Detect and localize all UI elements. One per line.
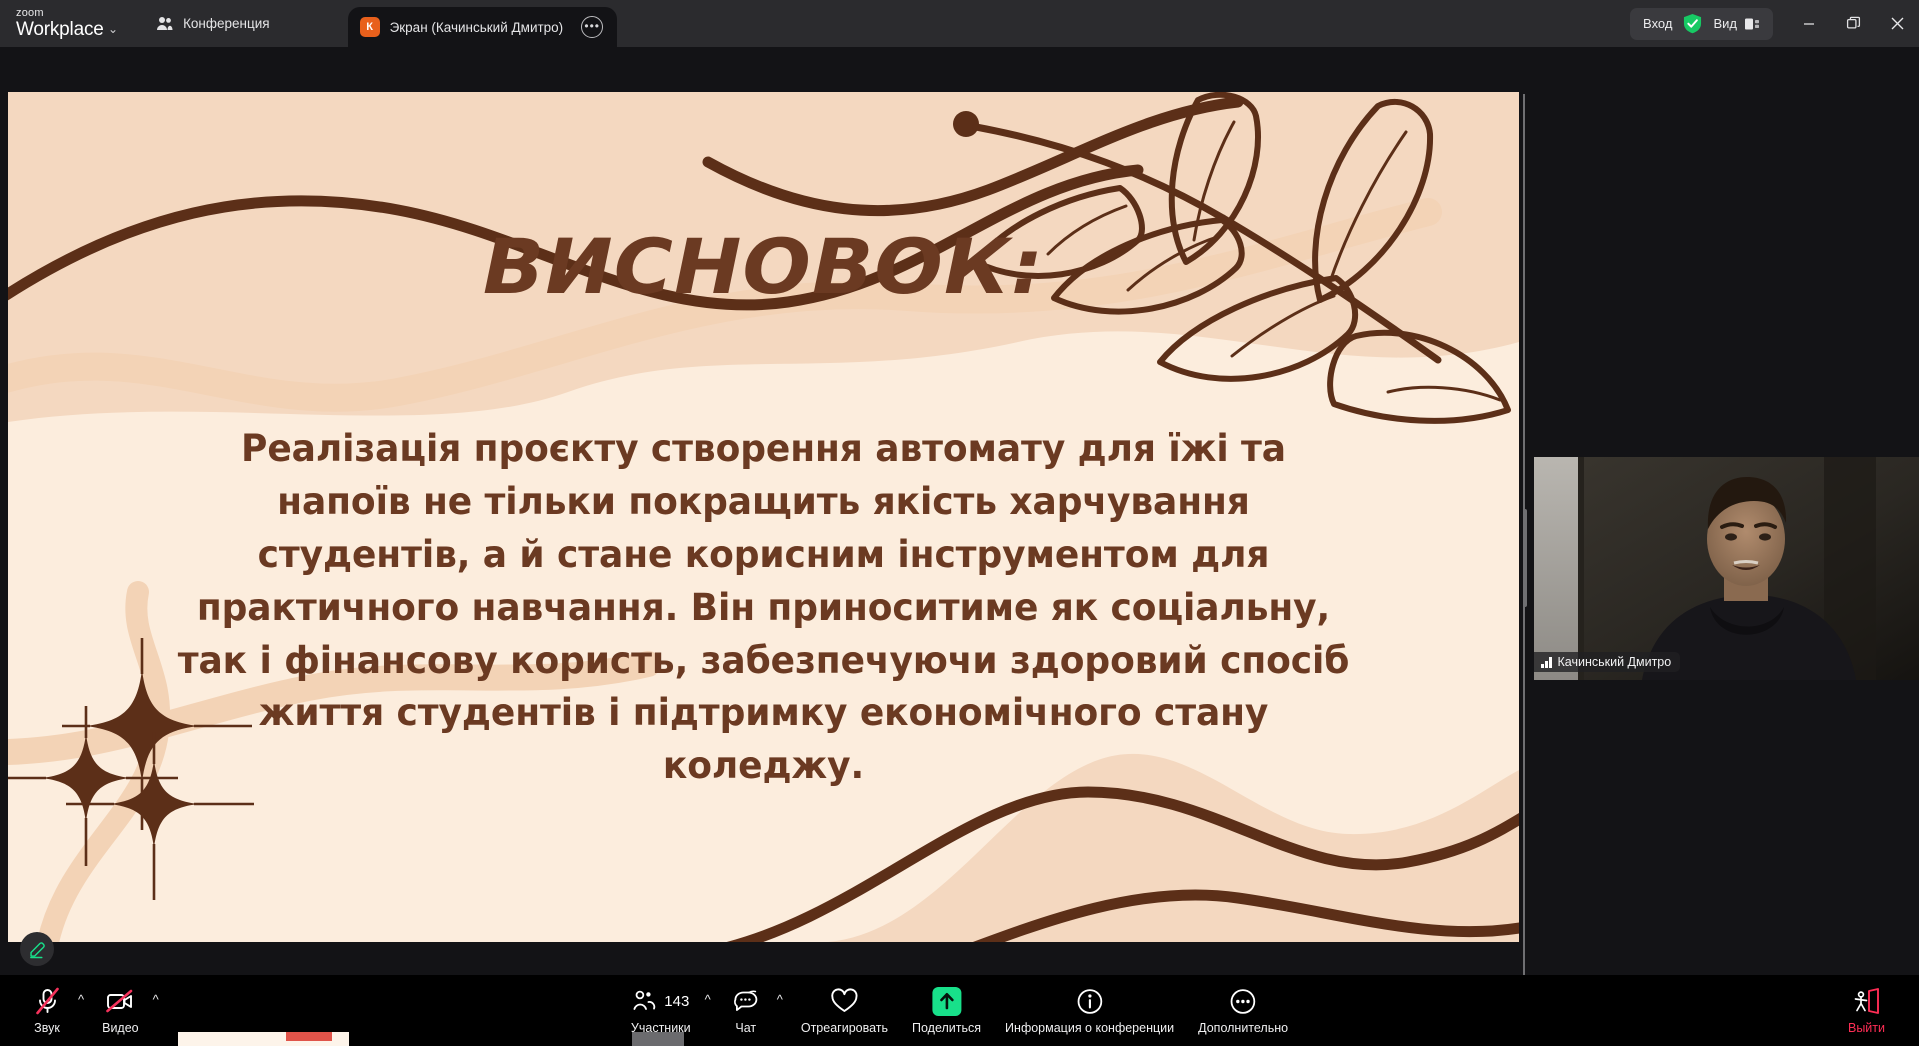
participants-label: Участники [631, 1021, 691, 1035]
share-panel-divider[interactable] [1523, 94, 1525, 1022]
camera-muted-icon [105, 986, 135, 1016]
presentation-slide: ВИСНОВОК: Реалізація проєкту створення а… [8, 92, 1519, 942]
meeting-toolbar: Звук ^ Видео ^ [0, 975, 1919, 1046]
toolbar-exit-group: Выйти [1836, 975, 1897, 1046]
meeting-info-button[interactable]: Информация о конференции [993, 980, 1186, 1042]
react-label: Отреагировать [801, 1021, 888, 1035]
video-button[interactable]: Видео [90, 980, 151, 1042]
chat-button[interactable]: Чат [717, 980, 775, 1042]
participants-chevron-up-icon[interactable]: ^ [703, 992, 717, 1029]
leave-meeting-label: Выйти [1848, 1021, 1885, 1035]
leave-door-icon [1852, 986, 1881, 1016]
window-controls [1787, 0, 1919, 47]
slide-title: ВИСНОВОК: [8, 222, 1519, 311]
react-button[interactable]: Отреагировать [789, 980, 900, 1042]
toolbar-center-group: 143 Участники ^ Чат ^ [619, 975, 1300, 1046]
participants-count: 143 [664, 993, 689, 1010]
more-options-icon[interactable]: ••• [581, 16, 603, 38]
tab-conference-label: Конференция [183, 16, 270, 31]
annotate-button[interactable] [20, 932, 54, 966]
maximize-icon[interactable] [1831, 0, 1875, 47]
tab-screen-share[interactable]: К Экран (Качинський Дмитро) ••• [348, 7, 618, 47]
background-window-accent [286, 1032, 332, 1041]
signal-bars-icon [1541, 657, 1552, 668]
tab-conference[interactable]: Конференция [140, 0, 286, 47]
self-video-name-badge: Качинський Дмитро [1534, 652, 1680, 672]
audio-button[interactable]: Звук [18, 980, 76, 1042]
video-label: Видео [102, 1021, 139, 1035]
meeting-info-label: Информация о конференции [1005, 1021, 1174, 1035]
pencil-annotate-icon [28, 940, 47, 959]
heart-icon [830, 986, 858, 1016]
close-icon[interactable] [1875, 0, 1919, 47]
login-label: Вход [1643, 16, 1672, 31]
share-screen-label: Поделиться [912, 1021, 981, 1035]
chevron-down-icon[interactable]: ⌄ [108, 22, 118, 36]
leave-meeting-button[interactable]: Выйти [1836, 980, 1897, 1042]
audio-label: Звук [34, 1021, 60, 1035]
zoom-workplace-logo: zoom Workplace [0, 8, 98, 39]
title-bar: zoom Workplace ⌄ Конференция К Экран (Ка… [0, 0, 1919, 47]
brand-workplace-text: Workplace [16, 20, 104, 39]
video-options-chevron-up-icon[interactable]: ^ [151, 992, 165, 1029]
slide-body-text: Реалізація проєкту створення автомату дл… [173, 422, 1355, 792]
tab-avatar-badge: К [360, 17, 380, 37]
layout-view-icon [1744, 17, 1760, 31]
more-label: Дополнительно [1198, 1021, 1288, 1035]
participants-icon [156, 16, 174, 31]
video-feed [1534, 457, 1919, 680]
share-screen-icon [932, 987, 961, 1016]
zoom-window: zoom Workplace ⌄ Конференция К Экран (Ка… [0, 0, 1919, 1046]
toolbar-left-group: Звук ^ Видео ^ [18, 975, 165, 1046]
share-screen-button[interactable]: Поделиться [900, 980, 993, 1042]
participants-icon [632, 990, 657, 1012]
login-button[interactable]: Вход [1643, 16, 1672, 31]
more-dots-icon [1230, 986, 1257, 1016]
audio-options-chevron-up-icon[interactable]: ^ [76, 992, 90, 1029]
self-video-name: Качинський Дмитро [1558, 655, 1672, 669]
chat-chevron-up-icon[interactable]: ^ [775, 992, 789, 1029]
self-video-tile[interactable]: Качинський Дмитро [1534, 457, 1919, 680]
shared-screen-stage: ВИСНОВОК: Реалізація проєкту створення а… [0, 47, 1919, 975]
view-button[interactable]: Вид [1713, 16, 1760, 31]
info-icon [1076, 986, 1103, 1016]
brand-zoom-text: zoom [16, 8, 104, 19]
chat-label: Чат [735, 1021, 756, 1035]
more-button[interactable]: Дополнительно [1186, 980, 1300, 1042]
chat-bubble-icon [732, 986, 759, 1016]
tab-screen-share-label: Экран (Качинський Дмитро) [390, 20, 564, 35]
titlebar-right-controls: Вход Вид [1630, 0, 1919, 47]
view-label: Вид [1713, 16, 1737, 31]
login-view-pill: Вход Вид [1630, 8, 1773, 40]
participants-button[interactable]: 143 Участники [619, 980, 703, 1042]
shield-check-icon[interactable] [1683, 13, 1702, 34]
minimize-icon[interactable] [1787, 0, 1831, 47]
microphone-muted-icon [34, 986, 61, 1016]
